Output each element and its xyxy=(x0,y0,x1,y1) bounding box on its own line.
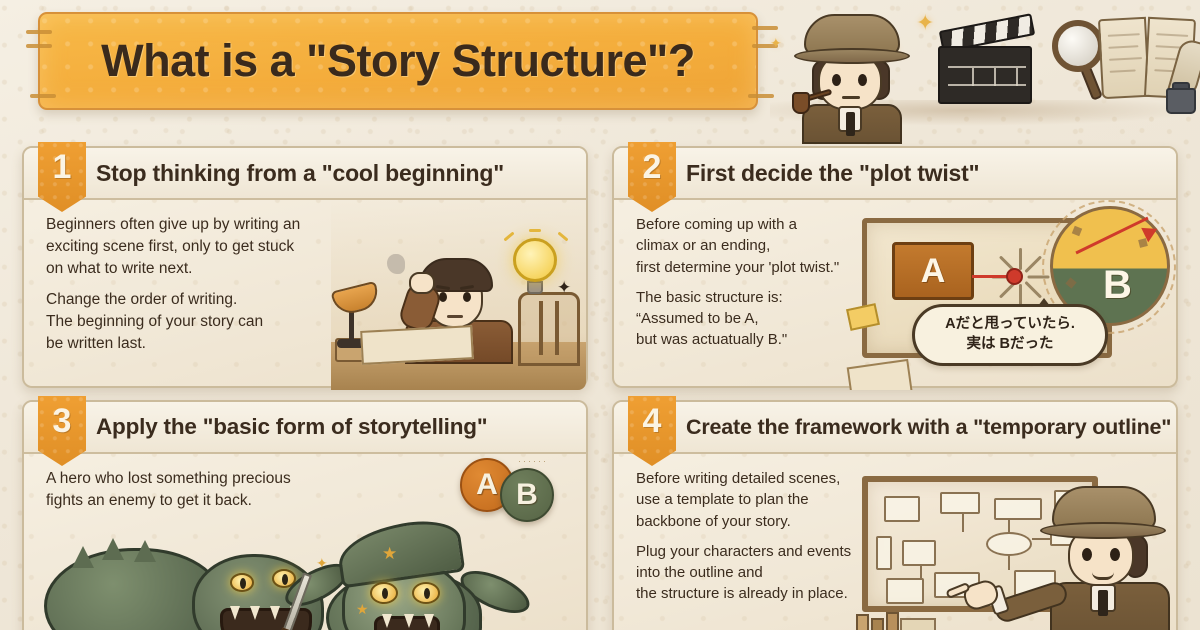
plot-twist-diagram: A B xyxy=(856,206,1172,386)
ab-badges: ······ A B xyxy=(460,458,570,524)
text-line: Before coming up with a xyxy=(636,214,886,235)
step-number-2: 2 xyxy=(643,150,662,184)
bubble-line-2: 実は Bだった xyxy=(967,335,1054,355)
text-line: The basic structure is: xyxy=(636,287,886,308)
inkwell-body xyxy=(1166,88,1196,114)
text-line: but was actuatually B." xyxy=(636,329,886,350)
text-line: Beginners often give up by writing an xyxy=(46,214,356,236)
sparkle-icon: ✦ xyxy=(557,278,571,298)
text-line: A hero who lost something precious xyxy=(46,468,376,490)
title-banner: What is a "Story Structure"? xyxy=(38,12,758,110)
speech-bubble: Aだと甩っていたら. 実は Bだった xyxy=(912,304,1108,366)
card-2-title: First decide the "plot twist" xyxy=(686,160,979,187)
lightbulb-icon xyxy=(513,238,557,282)
page-title: What is a "Story Structure"? xyxy=(101,35,695,87)
text-line: fights an enemy to get it back. xyxy=(46,490,376,512)
frustrated-writer-illustration: ✦ xyxy=(331,200,586,390)
text-line: exciting scene first, only to get stuck xyxy=(46,236,356,258)
bubble-line-1: Aだと甩っていたら. xyxy=(945,315,1075,335)
card-3-title: Apply the "basic form of storytelling" xyxy=(96,414,487,440)
paragraph: A hero who lost something precious fight… xyxy=(46,468,376,512)
header: What is a "Story Structure"? ✦ ✦ ✦ xyxy=(0,0,1200,132)
text-line: Before writing detailed scenes, xyxy=(636,468,886,489)
card-4-title: Create the framework with a "temporary o… xyxy=(686,415,1171,440)
sparkle-icon: ✦ xyxy=(316,555,328,572)
badge-b: B xyxy=(500,468,554,522)
step-number-1: 1 xyxy=(53,150,72,184)
text-line: climax or an ending, xyxy=(636,235,886,256)
card-step-4[interactable]: Create the framework with a "temporary o… xyxy=(612,400,1178,630)
sparkle-icon: ★ xyxy=(356,601,369,618)
banner-stitch-icon xyxy=(26,44,52,48)
card-3-header: Apply the "basic form of storytelling" xyxy=(24,402,586,454)
step-number-3: 3 xyxy=(53,404,72,438)
monsters-illustration: ✦ ★ ★ xyxy=(24,516,586,630)
card-step-1[interactable]: Stop thinking from a "cool beginning" 1 xyxy=(22,146,588,388)
card-2-header: First decide the "plot twist" xyxy=(614,148,1176,200)
step-number-4: 4 xyxy=(643,404,662,438)
infographic-stage: What is a "Story Structure"? ✦ ✦ ✦ xyxy=(0,0,1200,630)
card-step-2[interactable]: First decide the "plot twist" 2 A xyxy=(612,146,1178,388)
text-line: use a template to plan the xyxy=(636,489,886,510)
card-4-body: Before writing detailed scenes, use a te… xyxy=(614,454,1176,630)
text-line: into the outline and xyxy=(636,562,886,583)
card-4-header: Create the framework with a "temporary o… xyxy=(614,402,1176,454)
card-4-text: Before writing detailed scenes, use a te… xyxy=(636,468,886,614)
paragraph: Before coming up with a climax or an end… xyxy=(636,214,886,278)
detective-flowchart-illustration xyxy=(856,458,1176,630)
header-illustration: ✦ ✦ ✦ xyxy=(770,0,1200,132)
card-3-text: A hero who lost something precious fight… xyxy=(46,468,376,521)
card-2-text: Before coming up with a climax or an end… xyxy=(636,214,886,360)
paragraph: The basic structure is: “Assumed to be A… xyxy=(636,287,886,351)
monster-1-icon xyxy=(44,532,254,630)
paragraph: Plug your characters and events into the… xyxy=(636,541,886,605)
sparkle-icon: ✦ xyxy=(770,36,782,50)
paragraph: Change the order of writing. The beginni… xyxy=(46,289,356,355)
card-2-body: A B xyxy=(614,200,1176,390)
card-1-header: Stop thinking from a "cool beginning" xyxy=(24,148,586,200)
text-line: The beginning of your story can xyxy=(46,311,356,333)
diagram-box-a: A xyxy=(892,242,974,300)
text-line: backbone of your story. xyxy=(636,511,886,532)
box-a-label: A xyxy=(921,252,946,291)
text-line: be written last. xyxy=(46,333,356,355)
twist-point-icon xyxy=(1006,268,1023,285)
text-line: first determine your 'plot twist." xyxy=(636,257,886,278)
circle-b-label: B xyxy=(1103,263,1132,308)
star-icon: ★ xyxy=(382,544,397,564)
card-1-body: ✦ Beginners often give up by writing an … xyxy=(24,200,586,390)
card-1-title: Stop thinking from a "cool beginning" xyxy=(96,160,504,187)
clapperboard-icon xyxy=(938,22,1034,104)
detective-character-icon xyxy=(792,12,910,130)
banner-stitch-icon xyxy=(30,94,56,98)
text-line: Change the order of writing. xyxy=(46,289,356,311)
text-line: Plug your characters and events xyxy=(636,541,886,562)
sparkle-icon: ✦ xyxy=(916,12,934,34)
paragraph: Beginners often give up by writing an ex… xyxy=(46,214,356,280)
dotted-arc-icon: ······ xyxy=(518,456,548,466)
text-line: the structure is already in place. xyxy=(636,583,886,604)
detective-character-icon xyxy=(1034,486,1176,630)
banner-stitch-icon xyxy=(26,30,52,34)
monster-2-icon: ★ xyxy=(308,536,504,630)
card-step-3[interactable]: Apply the "basic form of storytelling" 3 xyxy=(22,400,588,630)
card-3-body: ✦ ★ ★ xyxy=(24,454,586,630)
text-line: on what to write next. xyxy=(46,258,356,280)
text-line: “Assumed to be A, xyxy=(636,308,886,329)
smoke-puff-icon xyxy=(387,254,405,274)
card-1-text: Beginners often give up by writing an ex… xyxy=(46,214,356,364)
paragraph: Before writing detailed scenes, use a te… xyxy=(636,468,886,532)
